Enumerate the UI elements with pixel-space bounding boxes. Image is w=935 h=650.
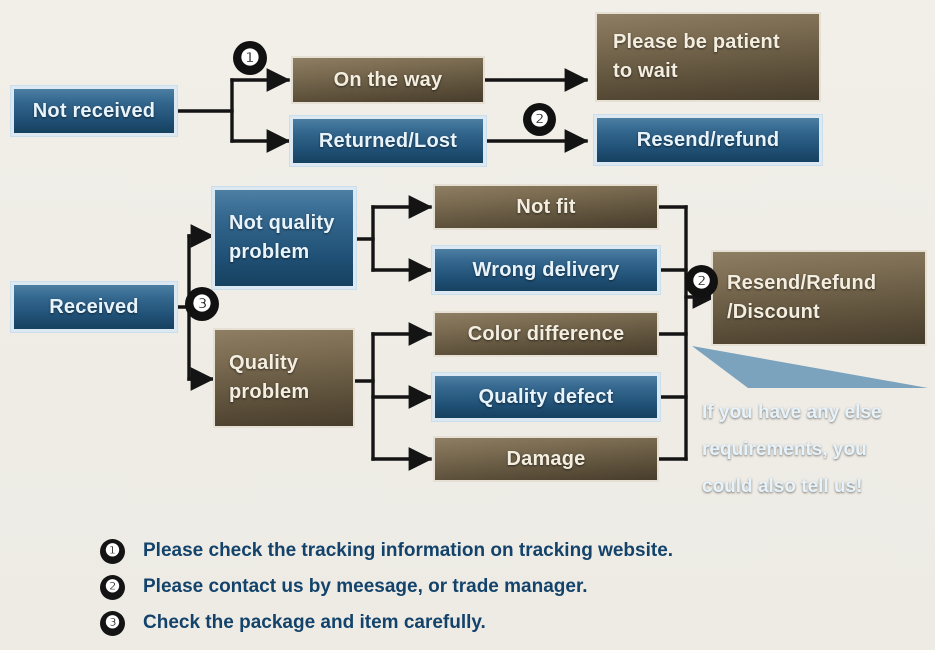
node-wrong-delivery-label: Wrong delivery — [473, 256, 620, 285]
note-line-2: requirements, you — [702, 439, 867, 460]
step-badge-1: ❶ — [234, 42, 266, 74]
node-wrong-delivery[interactable]: Wrong delivery — [435, 249, 657, 291]
node-quality-defect[interactable]: Quality defect — [435, 376, 657, 418]
legend-text-3: Check the package and item carefully. — [143, 612, 486, 634]
node-damage-label: Damage — [506, 445, 585, 474]
step-badge-3: ❸ — [186, 288, 218, 320]
node-resend-refund[interactable]: Resend/refund — [597, 118, 819, 162]
node-not-quality-problem-line2: problem — [229, 238, 309, 267]
node-damage[interactable]: Damage — [435, 438, 657, 480]
node-color-difference[interactable]: Color difference — [435, 313, 657, 355]
step-badge-1-label: ❶ — [240, 45, 260, 71]
note-line-1: If you have any else — [702, 402, 882, 423]
legend-badge-3: ❸ — [100, 611, 125, 636]
node-not-fit-label: Not fit — [516, 193, 575, 222]
node-quality-problem[interactable]: Quality problem — [215, 330, 353, 426]
note-callout-pointer — [690, 344, 928, 390]
node-on-the-way[interactable]: On the way — [293, 58, 483, 102]
node-returned-lost[interactable]: Returned/Lost — [293, 119, 483, 163]
node-resend-refund-discount-line2: /Discount — [727, 298, 820, 327]
legend: ❶ Please check the tracking information … — [100, 533, 860, 641]
node-returned-lost-label: Returned/Lost — [319, 127, 457, 156]
node-quality-problem-line2: problem — [229, 378, 309, 407]
note-callout: If you have any else requirements, you c… — [690, 344, 928, 528]
node-please-be-patient-line1: Please be patient — [613, 28, 780, 57]
legend-badge-2: ❷ — [100, 575, 125, 600]
node-resend-refund-label: Resend/refund — [637, 126, 780, 155]
node-on-the-way-label: On the way — [334, 66, 443, 95]
node-not-received-label: Not received — [33, 97, 155, 126]
node-resend-refund-discount-line1: Resend/Refund — [727, 269, 876, 298]
legend-item: ❸ Check the package and item carefully. — [100, 605, 860, 641]
legend-item: ❶ Please check the tracking information … — [100, 533, 860, 569]
legend-badge-2-label: ❷ — [105, 577, 120, 597]
step-badge-3-label: ❸ — [192, 291, 212, 317]
legend-badge-1: ❶ — [100, 539, 125, 564]
step-badge-2-right-label: ❷ — [692, 269, 711, 294]
node-received[interactable]: Received — [14, 285, 174, 329]
legend-badge-1-label: ❶ — [105, 541, 120, 561]
note-line-3: could also tell us! — [702, 476, 862, 497]
step-badge-2-right: ❷ — [686, 266, 717, 297]
legend-text-1: Please check the tracking information on… — [143, 540, 673, 562]
legend-text-2: Please contact us by meesage, or trade m… — [143, 576, 588, 598]
note-callout-body: If you have any else requirements, you c… — [690, 386, 928, 528]
node-please-be-patient[interactable]: Please be patient to wait — [597, 14, 819, 100]
node-received-label: Received — [49, 293, 138, 322]
node-color-difference-label: Color difference — [468, 320, 625, 349]
node-not-received[interactable]: Not received — [14, 89, 174, 133]
step-badge-2-top: ❷ — [524, 104, 555, 135]
node-please-be-patient-line2: to wait — [613, 57, 678, 86]
node-not-quality-problem-line1: Not quality — [229, 209, 335, 238]
legend-badge-3-label: ❸ — [105, 613, 120, 633]
node-not-quality-problem[interactable]: Not quality problem — [215, 190, 353, 286]
node-resend-refund-discount[interactable]: Resend/Refund /Discount — [713, 252, 925, 344]
node-not-fit[interactable]: Not fit — [435, 186, 657, 228]
flowchart-canvas: Not received ❶ On the way Returned/Lost … — [0, 0, 935, 650]
node-quality-problem-line1: Quality — [229, 349, 298, 378]
step-badge-2-top-label: ❷ — [530, 107, 549, 132]
node-quality-defect-label: Quality defect — [478, 383, 613, 412]
legend-item: ❷ Please contact us by meesage, or trade… — [100, 569, 860, 605]
